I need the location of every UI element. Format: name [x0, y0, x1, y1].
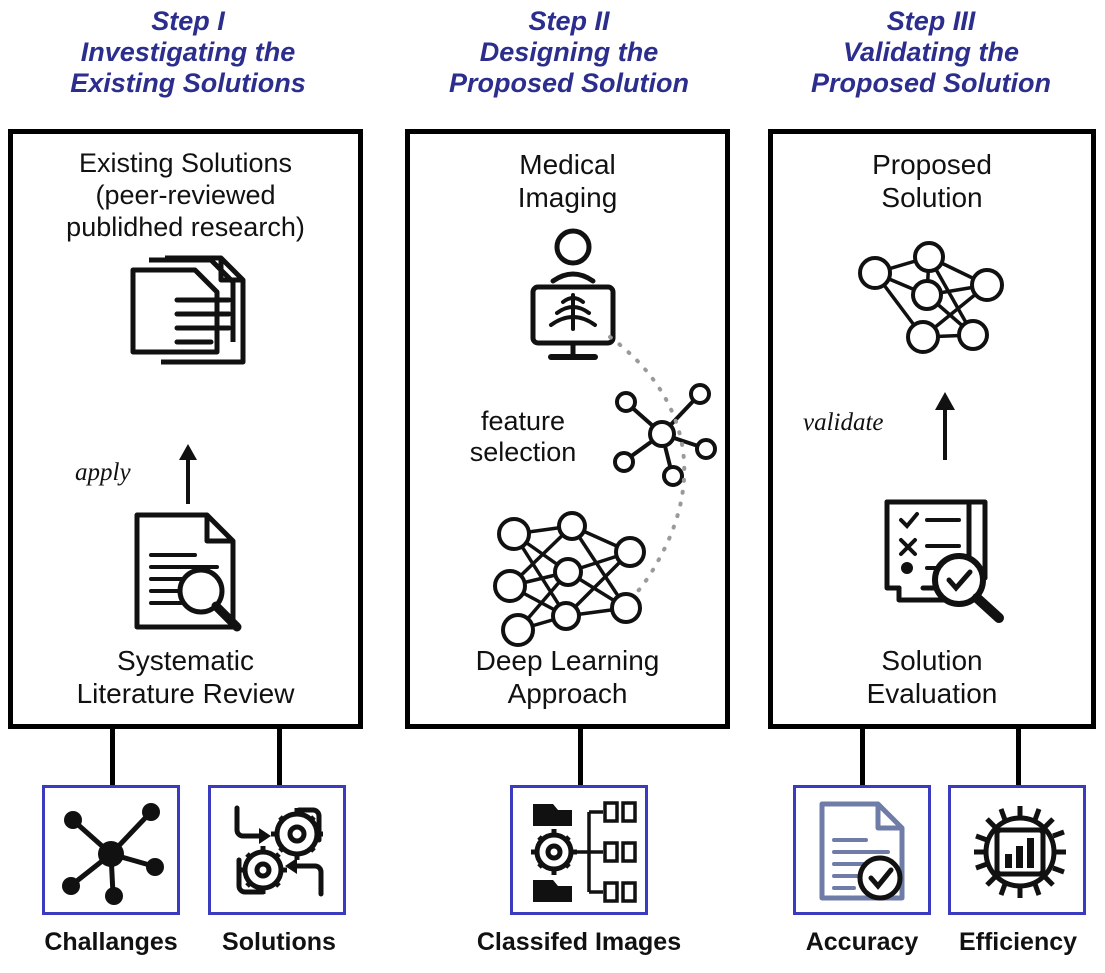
- output-label-solutions: Solutions: [190, 928, 368, 957]
- output-box-classifed-images: [510, 785, 648, 915]
- up-arrow-icon: [925, 392, 965, 462]
- output-box-efficiency: [948, 785, 1086, 915]
- image-classification-icon: [523, 798, 641, 906]
- checklist-magnifier-icon: [873, 492, 1013, 622]
- step-3-box-title: Proposed Solution: [773, 148, 1091, 214]
- output-box-solutions: [208, 785, 346, 915]
- step-3-connector-label: validate: [803, 409, 884, 437]
- step-3-heading-line-3: Proposed Solution: [762, 68, 1100, 99]
- neural-network-icon: [851, 239, 1021, 369]
- network-nodes-icon: [57, 800, 169, 904]
- output-label-challanges: Challanges: [22, 928, 200, 957]
- output-box-accuracy: [793, 785, 931, 915]
- step-3-heading-line-1: Step III: [762, 6, 1100, 37]
- step-3-box-bottom: Solution Evaluation: [773, 644, 1091, 710]
- step-2-heading: Step II Designing the Proposed Solution: [400, 6, 738, 99]
- gear-chart-icon: [965, 798, 1075, 906]
- step-2-heading-line-2: Designing the: [400, 37, 738, 68]
- connector-step3-accuracy: [860, 729, 865, 785]
- step-2-heading-line-1: Step II: [400, 6, 738, 37]
- step-1-connector-label: apply: [75, 459, 131, 487]
- step-3-box: Proposed Solution: [768, 129, 1096, 729]
- step-2-heading-line-3: Proposed Solution: [400, 68, 738, 99]
- step-1-box-title: Existing Solutions (peer-reviewed publid…: [13, 148, 358, 244]
- output-label-accuracy: Accuracy: [772, 928, 952, 957]
- step-1-heading-line-2: Investigating the: [10, 37, 366, 68]
- step-3-heading: Step III Validating the Proposed Solutio…: [762, 6, 1100, 99]
- documents-stack-icon: [125, 256, 255, 381]
- step-2-middle-label: feature selection: [428, 406, 618, 468]
- connector-step1-solutions: [277, 729, 282, 785]
- connector-step3-efficiency: [1016, 729, 1021, 785]
- neural-network-icon: [488, 512, 658, 650]
- step-3-heading-line-2: Validating the: [762, 37, 1100, 68]
- step-1-box: Existing Solutions (peer-reviewed publid…: [8, 129, 363, 729]
- output-box-challanges: [42, 785, 180, 915]
- diagram-canvas: Step I Investigating the Existing Soluti…: [0, 0, 1105, 973]
- connector-step2-classified: [578, 729, 583, 785]
- document-check-icon: [814, 798, 918, 906]
- output-label-classifed-images: Classifed Images: [469, 928, 689, 957]
- up-arrow-icon: [168, 444, 208, 506]
- output-label-efficiency: Efficiency: [928, 928, 1105, 957]
- step-1-box-bottom: Systematic Literature Review: [13, 644, 358, 710]
- step-1-heading: Step I Investigating the Existing Soluti…: [10, 6, 366, 99]
- step-1-heading-line-3: Existing Solutions: [10, 68, 366, 99]
- step-1-heading-line-1: Step I: [10, 6, 366, 37]
- step-2-box-title: Medical Imaging: [410, 148, 725, 214]
- step-2-box: Medical Imaging feature selec: [405, 129, 730, 729]
- step-2-box-bottom: Deep Learning Approach: [410, 644, 725, 710]
- gears-cycle-icon: [225, 800, 335, 904]
- connector-step1-challanges: [110, 729, 115, 785]
- document-magnifier-icon: [129, 509, 249, 634]
